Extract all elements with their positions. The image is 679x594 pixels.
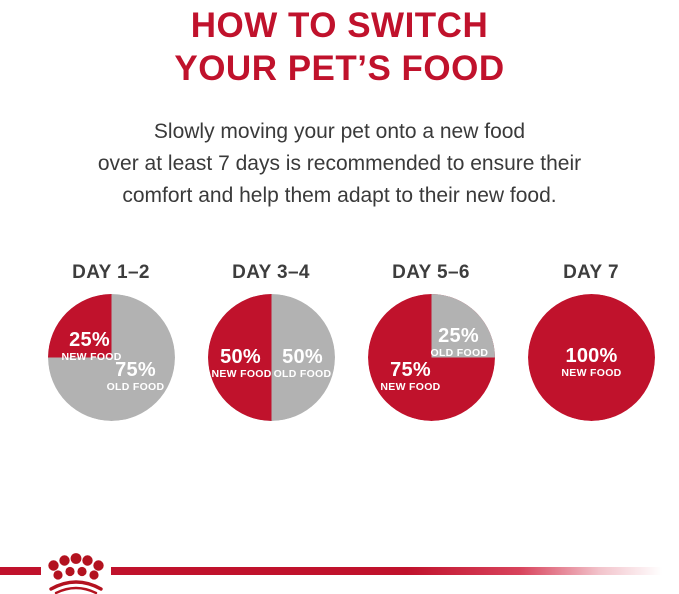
intro-line-2: over at least 7 days is recommended to e… [0, 148, 679, 180]
pie-chart-day-5-6: 25% OLD FOOD 75% NEW FOOD [368, 294, 495, 421]
slice-pct-new-4: 100% [561, 346, 623, 366]
crown-logo-icon [43, 542, 109, 594]
pie-chart-day-3-4: 50% NEW FOOD 50% OLD FOOD [208, 294, 335, 421]
slice-name-old-1: OLD FOOD [106, 382, 166, 393]
slice-name-new-3: NEW FOOD [380, 382, 442, 393]
slice-label-new-1: 25% NEW FOOD [62, 330, 118, 363]
slice-label-old-1: 75% OLD FOOD [106, 360, 166, 393]
step-day-5-6: DAY 5–6 25% OLD FOOD 75% NEW FOOD [351, 262, 511, 442]
slice-pct-new-1: 25% [62, 330, 118, 350]
slice-pct-new-2: 50% [212, 347, 270, 367]
slice-pct-old-1: 75% [106, 360, 166, 380]
slice-label-new-3: 75% NEW FOOD [380, 360, 442, 393]
pie-chart-day-1-2: 25% NEW FOOD 75% OLD FOOD [48, 294, 175, 421]
step-day-1-2: DAY 1–2 25% NEW FOOD 75% OLD FOOD [31, 262, 191, 442]
page-title: HOW TO SWITCH YOUR PET’S FOOD [0, 4, 679, 90]
intro-line-1: Slowly moving your pet onto a new food [0, 116, 679, 148]
footer-bar-left [0, 567, 41, 575]
slice-pct-old-2: 50% [274, 347, 332, 367]
switch-schedule-steps: DAY 1–2 25% NEW FOOD 75% OLD FOOD DAY 3–… [0, 262, 679, 442]
page-title-line-1: HOW TO SWITCH [0, 4, 679, 47]
slice-name-new-4: NEW FOOD [561, 368, 623, 379]
slice-label-new-2: 50% NEW FOOD [212, 347, 270, 380]
slice-label-new-4: 100% NEW FOOD [561, 346, 623, 379]
day-label-3: DAY 5–6 [392, 262, 470, 284]
footer [0, 542, 679, 594]
page-title-line-2: YOUR PET’S FOOD [0, 47, 679, 90]
intro-paragraph: Slowly moving your pet onto a new food o… [0, 116, 679, 212]
day-label-2: DAY 3–4 [232, 262, 310, 284]
day-label-1: DAY 1–2 [72, 262, 150, 284]
slice-name-new-2: NEW FOOD [212, 369, 270, 380]
step-day-7: DAY 7 100% NEW FOOD [511, 262, 671, 442]
footer-bar-right [111, 567, 679, 575]
slice-pct-old-3: 25% [431, 326, 487, 346]
slice-name-old-2: OLD FOOD [274, 369, 332, 380]
slice-label-old-2: 50% OLD FOOD [274, 347, 332, 380]
pie-chart-day-7: 100% NEW FOOD [528, 294, 655, 421]
slice-pct-new-3: 75% [380, 360, 442, 380]
slice-label-old-3: 25% OLD FOOD [431, 326, 487, 359]
day-label-4: DAY 7 [563, 262, 619, 284]
step-day-3-4: DAY 3–4 50% NEW FOOD 50% OLD FOOD [191, 262, 351, 442]
slice-name-old-3: OLD FOOD [431, 348, 487, 359]
intro-line-3: comfort and help them adapt to their new… [0, 180, 679, 212]
